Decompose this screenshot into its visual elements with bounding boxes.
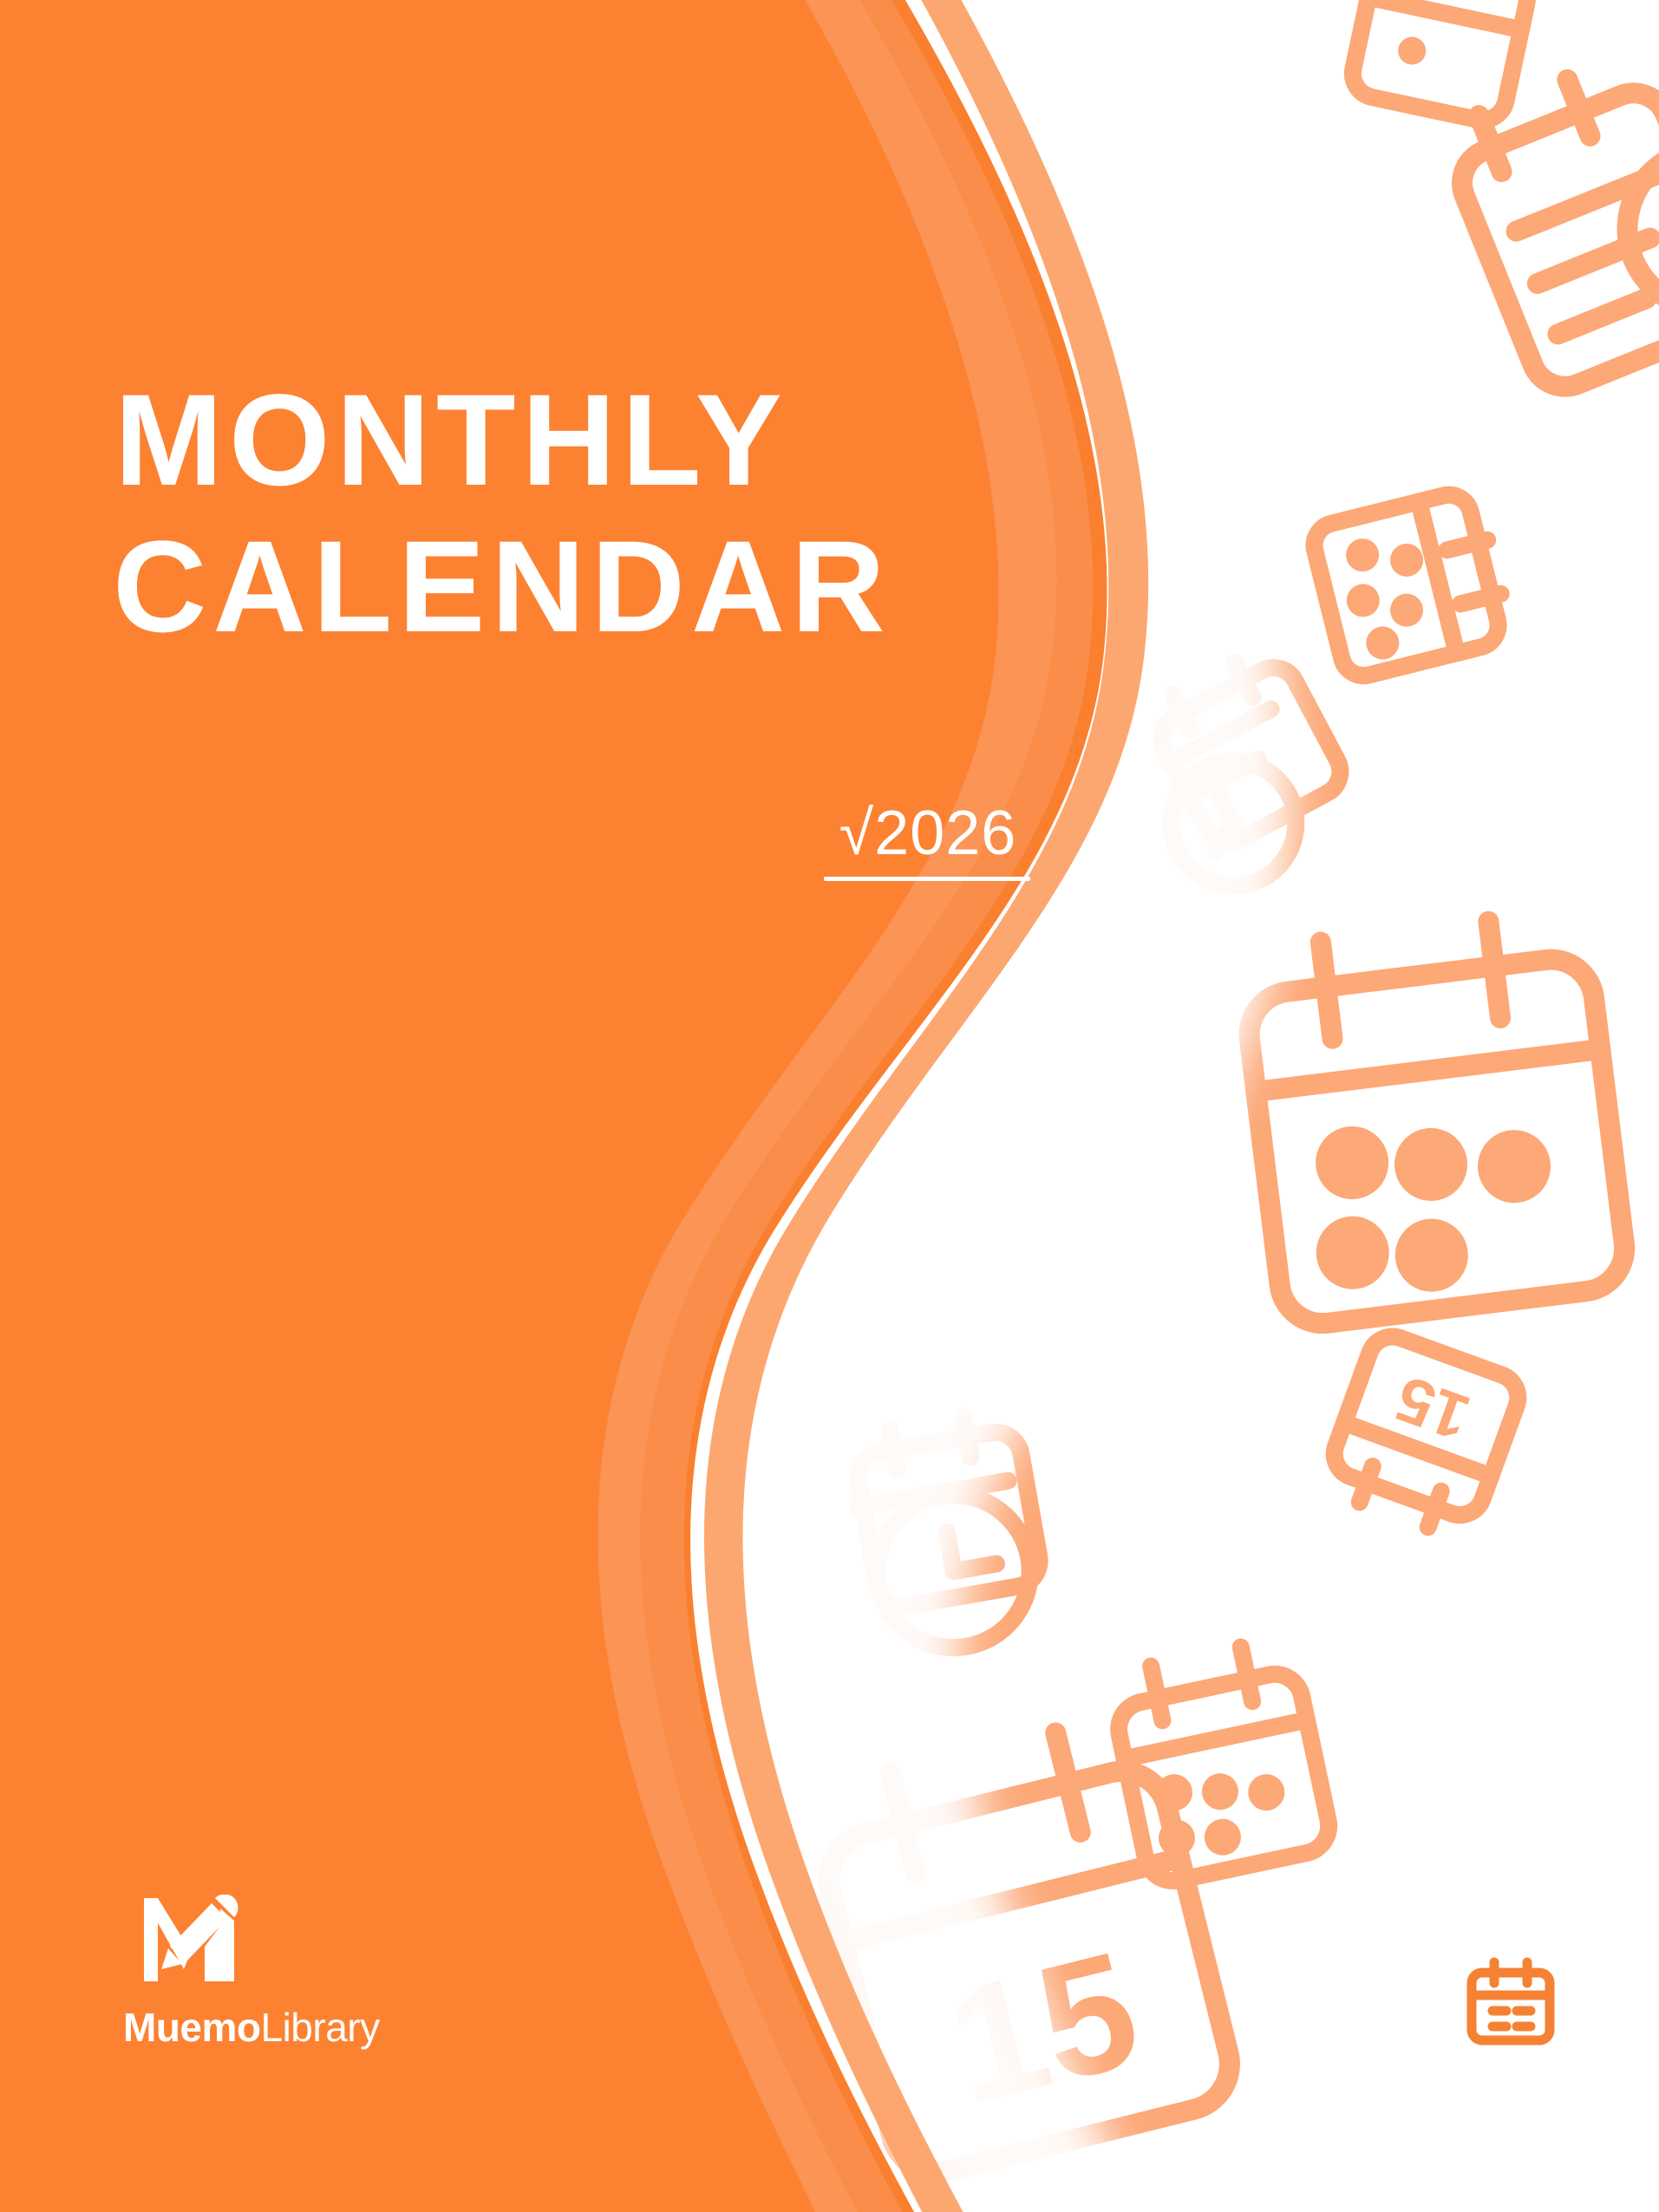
- year-label: √2026: [824, 802, 1032, 865]
- calendar-cover-page: .o{fill:none;stroke:#FCA877;stroke-width…: [0, 0, 1659, 2212]
- brand-logo: MuemoLibrary: [123, 1895, 470, 2047]
- title-line-calendar: CALENDAR: [111, 519, 1030, 654]
- cover-year-block: √2026: [824, 802, 1032, 881]
- year-underline: [824, 877, 1030, 881]
- brand-name-light: Library: [261, 2005, 380, 2050]
- brand-wordmark: MuemoLibrary: [123, 2007, 470, 2047]
- m-pencil-logo-icon: [137, 1895, 241, 1985]
- brand-name-bold: Muemo: [123, 2005, 261, 2050]
- cover-title-block: MONTHLY CALENDAR: [111, 373, 1030, 653]
- cover-content: MONTHLY CALENDAR √2026: [0, 0, 1659, 2212]
- title-line-monthly: MONTHLY: [111, 373, 1030, 507]
